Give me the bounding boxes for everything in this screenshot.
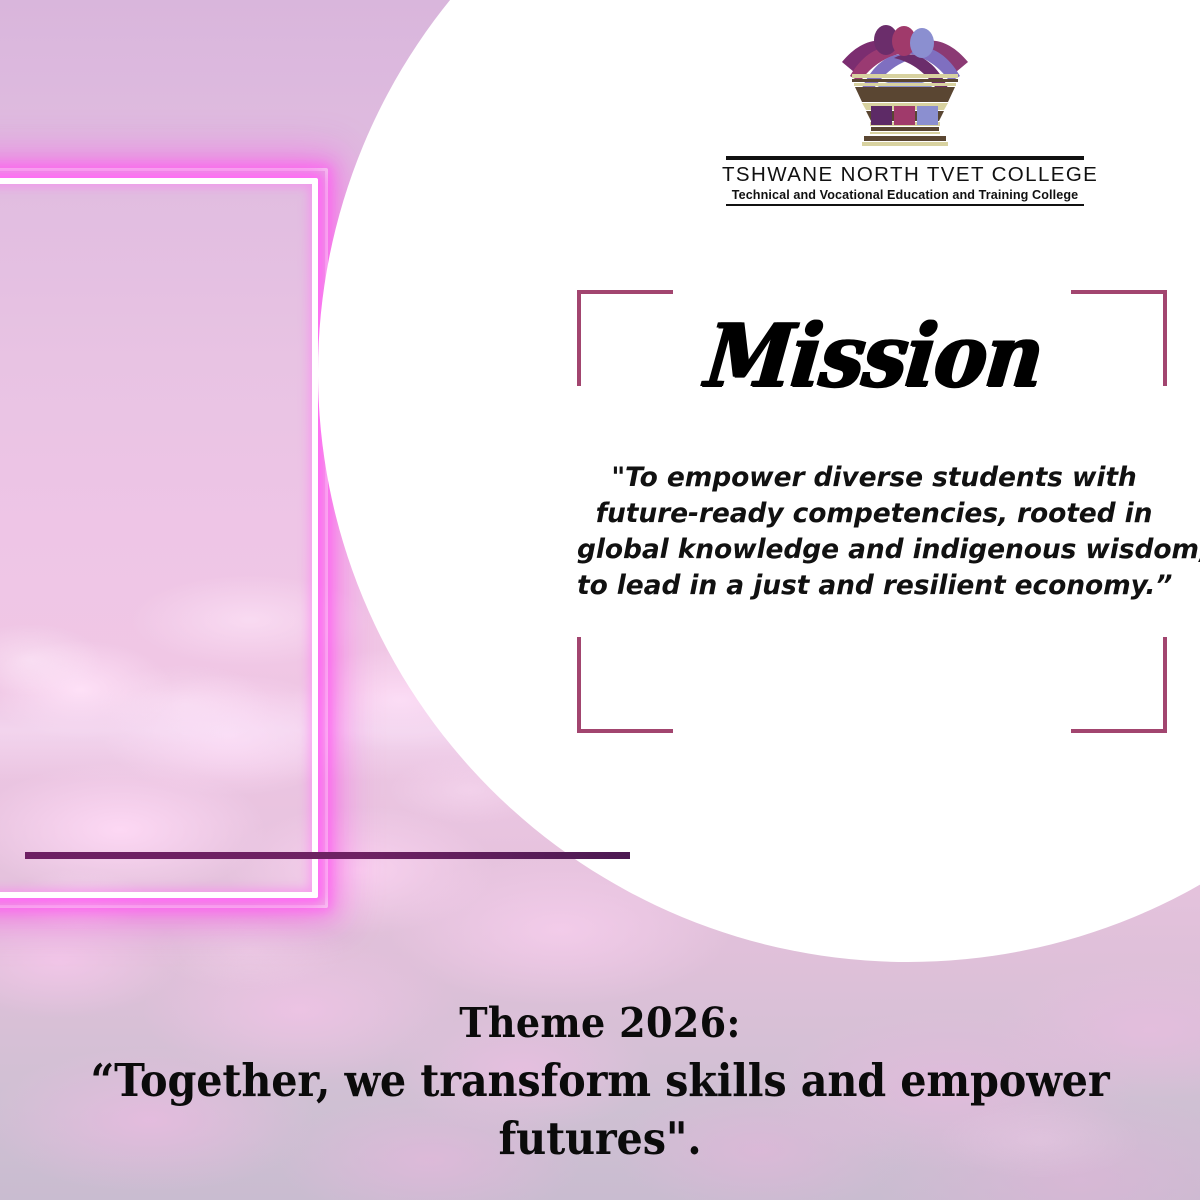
poster-canvas: TSHWANE NORTH TVET COLLEGE Technical and… — [0, 0, 1200, 1200]
mission-statement-line: "To empower diverse students with — [577, 460, 1171, 496]
logo-rule-bottom — [726, 204, 1084, 206]
neon-frame-rectangle — [0, 178, 318, 898]
logo-rule-top — [726, 156, 1084, 160]
mission-statement-line: future-ready competencies, rooted in — [577, 496, 1171, 532]
mission-statement-line: global knowledge and indigenous wisdom, — [577, 532, 1171, 568]
horizontal-divider-rule — [25, 852, 630, 859]
theme-quote: “Together, we transform skills and empow… — [48, 1052, 1152, 1168]
college-logo: TSHWANE NORTH TVET COLLEGE Technical and… — [722, 18, 1088, 213]
mission-statement: "To empower diverse students with future… — [577, 460, 1171, 604]
logo-college-subtitle: Technical and Vocational Education and T… — [722, 188, 1088, 202]
theme-label: Theme 2026: — [42, 998, 1158, 1048]
bracket-corner-bottom-left — [577, 637, 673, 733]
bracket-corner-bottom-right — [1071, 637, 1167, 733]
theme-block: Theme 2026: “Together, we transform skil… — [0, 998, 1200, 1168]
college-logo-mark-icon — [830, 18, 980, 150]
logo-college-name: TSHWANE NORTH TVET COLLEGE — [722, 163, 1088, 187]
mission-heading: Mission — [572, 313, 1175, 400]
mission-statement-line: to lead in a just and resilient economy.… — [577, 568, 1171, 604]
